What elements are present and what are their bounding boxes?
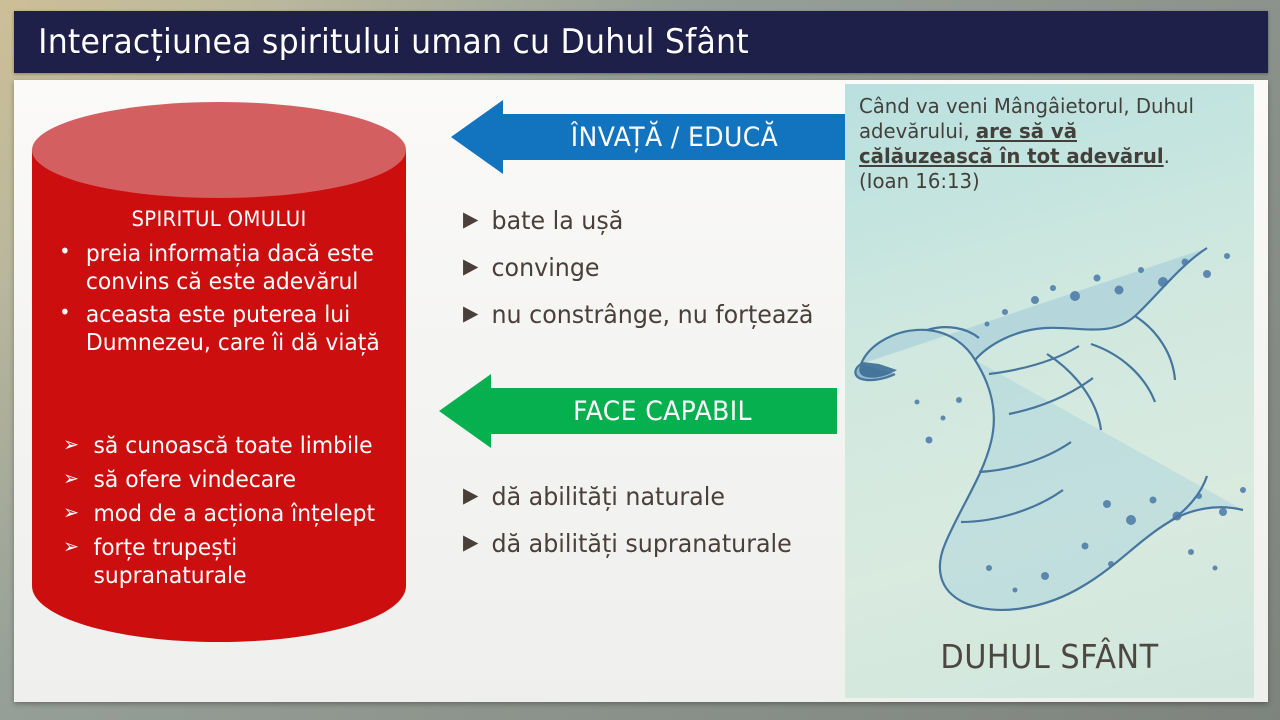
list-item: aceasta este puterea lui Dumnezeu, care … [46,301,380,358]
slide-frame: Interacțiunea spiritului uman cu Duhul S… [0,0,1280,720]
list-item: preia informația dacă este convins că es… [46,240,380,297]
enable-items-list: dă abilități naturale dă abilități supra… [463,484,863,578]
list-item: dă abilități naturale [463,484,843,509]
cylinder-arrow-list: să cunoască toate limbile să ofere vinde… [46,432,398,596]
verse-reference: (Ioan 16:13) [859,169,980,193]
bible-verse: Când va veni Mângâietorul, Duhul adevăru… [859,94,1216,194]
holy-spirit-image-panel: Când va veni Mângâietorul, Duhul adevăru… [845,84,1254,698]
learn-arrow-label: ÎNVAȚĂ / EDUCĂ [512,114,837,160]
list-item: convinge [463,255,843,280]
list-item: să cunoască toate limbile [46,432,380,460]
enable-arrow-banner: FACE CAPABIL [439,380,839,442]
learn-items-list: bate la ușă convinge nu constrânge, nu f… [463,208,863,349]
spirit-cylinder: SPIRITUL OMULUI preia informația dacă es… [32,102,406,682]
slide-title-bar: Interacțiunea spiritului uman cu Duhul S… [14,11,1268,73]
list-item: mod de a acționa înțelept [46,500,380,528]
left-arrow-icon [439,374,491,448]
water-splash-dove-icon [845,204,1254,624]
cylinder-heading: SPIRITUL OMULUI [43,207,395,231]
middle-column: ÎNVAȚĂ / EDUCĂ bate la ușă convinge nu c… [429,80,849,702]
learn-arrow-banner: ÎNVAȚĂ / EDUCĂ [451,106,851,168]
slide-content: SPIRITUL OMULUI preia informația dacă es… [14,80,1268,702]
left-arrow-icon [451,100,503,174]
page-title: Interacțiunea spiritului uman cu Duhul S… [14,22,749,62]
list-item: dă abilități supranaturale [463,531,843,556]
verse-text-period: . [1164,144,1170,168]
list-item: forțe trupești supranaturale [46,534,380,590]
list-item: să ofere vindecare [46,466,380,494]
cylinder-bullet-list: preia informația dacă este convins că es… [46,240,398,361]
list-item: bate la ușă [463,208,843,233]
panel-caption: DUHUL SFÂNT [861,637,1237,676]
list-item: nu constrânge, nu forțează [463,302,843,327]
enable-arrow-label: FACE CAPABIL [500,388,825,434]
cylinder-text: SPIRITUL OMULUI preia informația dacă es… [32,102,406,682]
